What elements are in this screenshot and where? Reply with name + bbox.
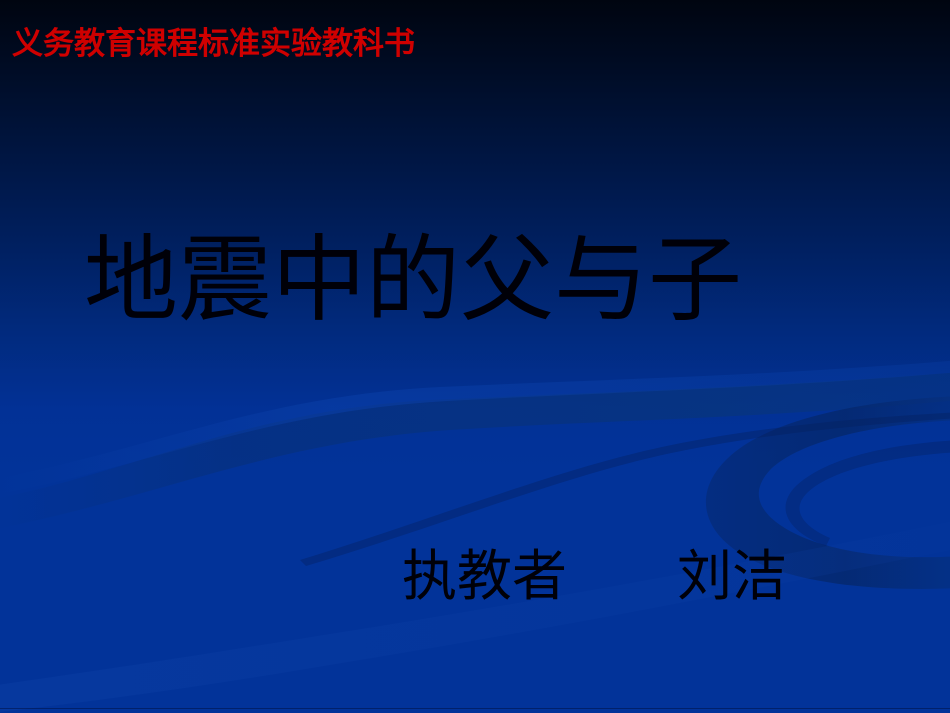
textbook-series-header: 义务教育课程标准实验教科书	[12, 26, 415, 62]
presentation-slide: 义务教育课程标准实验教科书 地震中的父与子 执教者 刘洁	[0, 0, 950, 713]
slide-main-title: 地震中的父与子	[84, 225, 742, 337]
bottom-divider	[0, 708, 950, 709]
presenter-line: 执教者 刘洁	[402, 543, 787, 609]
